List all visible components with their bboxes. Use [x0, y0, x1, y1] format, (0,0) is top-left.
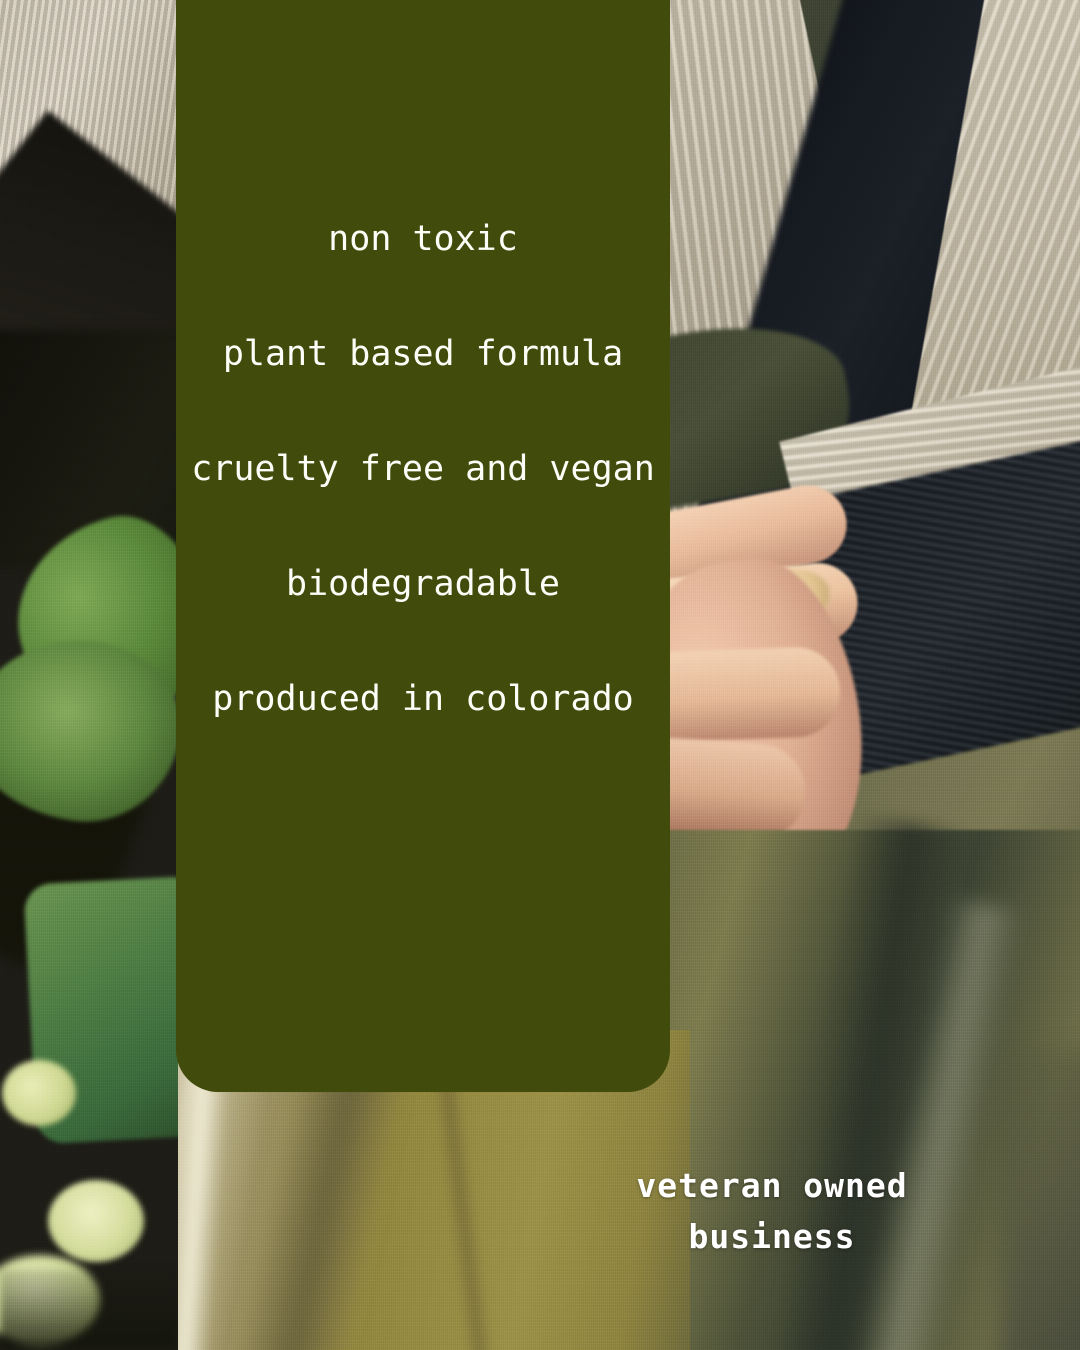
left-bottom-vignette	[0, 1270, 178, 1350]
badge-line-2: business	[562, 1211, 982, 1262]
claims-list: non toxic plant based formula cruelty fr…	[176, 0, 670, 1092]
social-post-canvas: non toxic plant based formula cruelty fr…	[0, 0, 1080, 1350]
flower-cluster-2	[48, 1180, 144, 1262]
veteran-owned-badge: veteran owned business	[562, 1160, 982, 1262]
photo-left-region	[0, 0, 178, 1350]
badge-line-1: veteran owned	[562, 1160, 982, 1211]
claim-biodegradable: biodegradable	[286, 567, 560, 602]
claim-non-toxic: non toxic	[328, 222, 518, 257]
claim-produced-in-colorado: produced in colorado	[212, 682, 633, 717]
claim-plant-based-formula: plant based formula	[223, 337, 623, 372]
flower-cluster-1	[2, 1060, 76, 1126]
claim-cruelty-free-and-vegan: cruelty free and vegan	[191, 452, 655, 487]
right-edge-shadow	[1000, 1050, 1080, 1350]
product-claims-panel: non toxic plant based formula cruelty fr…	[176, 0, 670, 1092]
